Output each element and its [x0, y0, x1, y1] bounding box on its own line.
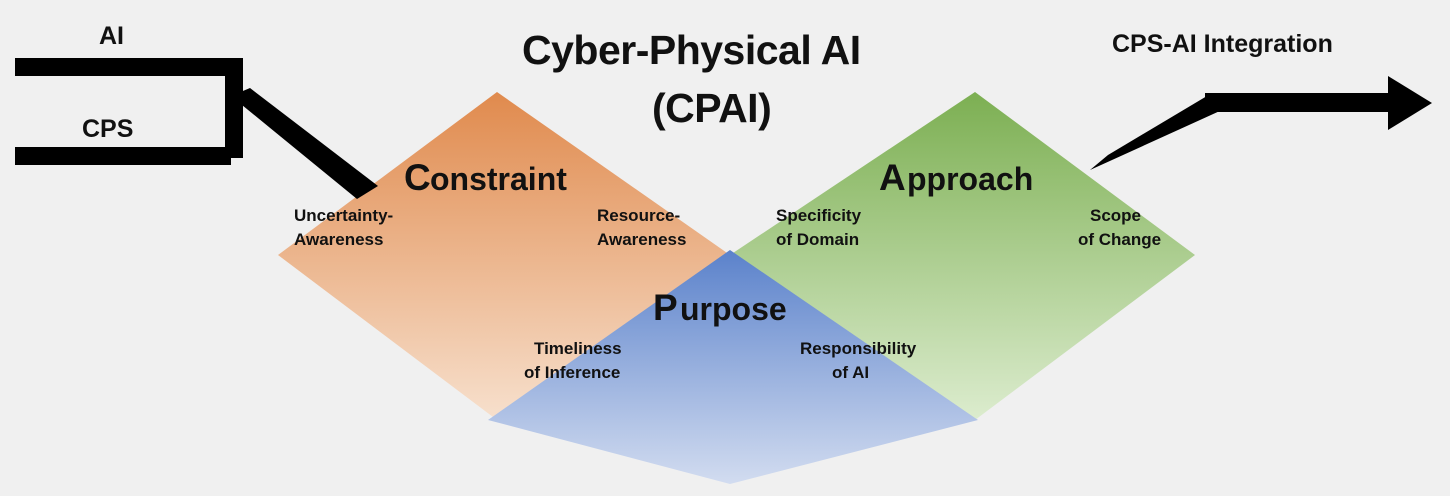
purpose-label-timeliness-line2: of Inference: [524, 363, 620, 382]
output-arrow: CPS-AI Integration: [1090, 30, 1432, 170]
constraint-title-rest: onstraint: [430, 161, 567, 197]
approach-title-rest: pproach: [907, 161, 1033, 197]
constraint-title-initial: C: [404, 157, 431, 198]
source-bracket: AI CPS: [15, 22, 378, 199]
approach-label-specificity-line2: of Domain: [776, 230, 859, 249]
bracket-right-bar: [225, 58, 243, 158]
approach-label-scope-line1: Scope: [1090, 206, 1141, 225]
constraint-label-uncertainty-line2: Awareness: [294, 230, 383, 249]
bracket-connector-arrow: [231, 88, 378, 199]
bracket-label-ai: AI: [99, 22, 124, 50]
purpose-label-responsibility-line2: of AI: [832, 363, 869, 382]
bracket-label-cps: CPS: [82, 115, 133, 143]
arrow-horizontal-shaft: [1205, 93, 1400, 112]
purpose-title-rest: urpose: [680, 291, 787, 327]
purpose-label-timeliness-line1: Timeliness: [534, 339, 622, 358]
approach-label-scope-line2: of Change: [1078, 230, 1161, 249]
bracket-bottom-bar: [15, 147, 231, 165]
arrow-diagonal-segment: [1090, 93, 1222, 170]
constraint-label-resource-line1: Resource-: [597, 206, 680, 225]
constraint-label-resource-line2: Awareness: [597, 230, 686, 249]
arrow-head: [1388, 76, 1432, 130]
title-line-1: Cyber-Physical AI: [522, 27, 861, 73]
output-arrow-label: CPS-AI Integration: [1112, 30, 1333, 58]
diagram-title: Cyber-Physical AI (CPAI): [522, 27, 861, 131]
purpose-title-initial: P: [653, 287, 678, 328]
constraint-label-uncertainty-line1: Uncertainty-: [294, 206, 393, 225]
cpai-diagram: C onstraint Uncertainty- Awareness Resou…: [0, 0, 1450, 496]
title-line-2: (CPAI): [652, 85, 771, 131]
purpose-label-responsibility-line1: Responsibility: [800, 339, 917, 358]
bracket-top-bar: [15, 58, 243, 76]
diagram-canvas: C onstraint Uncertainty- Awareness Resou…: [0, 0, 1450, 496]
approach-title-initial: A: [879, 157, 906, 198]
approach-label-specificity-line1: Specificity: [776, 206, 862, 225]
